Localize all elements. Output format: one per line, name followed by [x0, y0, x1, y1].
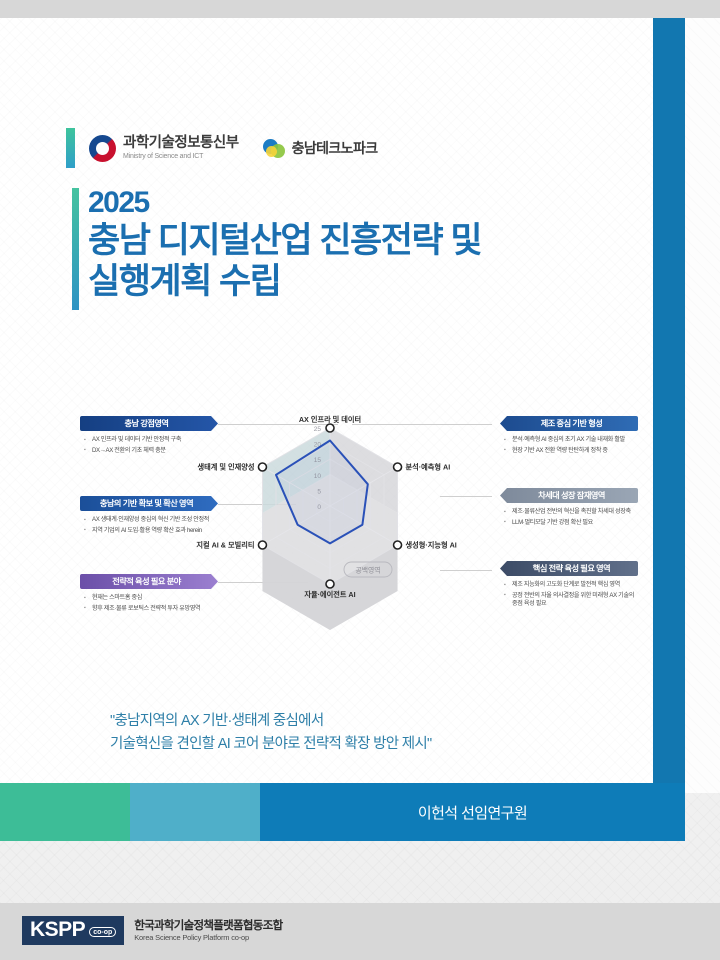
- svg-text:AX 인프라 및 데이터: AX 인프라 및 데이터: [299, 415, 361, 424]
- page-title: 2025 충남 디지털산업 진흥전략 및 실행계획 수립: [88, 186, 481, 302]
- org-name-en: Korea Science Policy Platform co-op: [134, 933, 282, 942]
- svg-text:생성형·지능형 AI: 생성형·지능형 AI: [406, 541, 457, 550]
- callout-bullet: LLM·멀티모달 기반 강점 확산 필요: [504, 519, 638, 527]
- svg-text:25: 25: [314, 426, 322, 433]
- callout-right-0-head: 제조 중심 기반 형성: [500, 416, 638, 431]
- logo-row: 과학기술정보통신부 Ministry of Science and ICT 충남…: [66, 128, 378, 168]
- right-margin: [685, 18, 720, 793]
- page-background: 과학기술정보통신부 Ministry of Science and ICT 충남…: [0, 18, 720, 903]
- callout-bullet: 공정 전반의 자율 의사결정을 위한 미래형 AX 기술의 중점 육성 필요: [504, 592, 638, 609]
- right-blue-stripe: [653, 18, 685, 793]
- kspp-coop-tag: co-op: [89, 927, 116, 937]
- callout-right-1-head: 차세대 성장 잠재영역: [500, 488, 638, 503]
- callout-right-2[interactable]: 핵심 전략 육성 필요 영역 제조 지능화의 고도화 단계로 발전적 핵심 영역…: [500, 561, 638, 611]
- quote-text: "충남지역의 AX 기반·생태계 중심에서 기술혁신을 견인할 AI 코어 분야…: [110, 710, 431, 756]
- radar-chart: 0510152025AX 인프라 및 데이터분석·예측형 AI생성형·지능형 A…: [196, 406, 464, 636]
- header-accent-bar: [66, 128, 75, 168]
- ministry-name-ko: 과학기술정보통신부: [123, 136, 239, 151]
- callout-bullet: 분석·예측형 AI 중심의 초기 AX 기술 내재화 활발: [504, 436, 638, 444]
- callout-right-2-body: 제조 지능화의 고도화 단계로 발전적 핵심 영역 공정 전반의 자율 의사결정…: [500, 581, 638, 609]
- footer-logo: KSPP co-op 한국과학기술정책플랫폼협동조합 Korea Science…: [22, 916, 282, 945]
- callout-right-0-body: 분석·예측형 AI 중심의 초기 AX 기술 내재화 활발 현장 기반 AX 전…: [500, 436, 638, 455]
- technopark-icon: [263, 137, 286, 160]
- taegeuk-icon: [89, 135, 116, 162]
- callout-right-0[interactable]: 제조 중심 기반 형성 분석·예측형 AI 중심의 초기 AX 기술 내재화 활…: [500, 416, 638, 458]
- svg-text:자율·에이전트 AI: 자율·에이전트 AI: [304, 590, 355, 599]
- svg-text:분석·예측형 AI: 분석·예측형 AI: [406, 463, 451, 472]
- callout-right-1-body: 제조·물류산업 전반의 혁신을 촉진할 차세대 성장축 LLM·멀티모달 기반 …: [500, 508, 638, 527]
- svg-text:피지컬 AI & 모빌리티: 피지컬 AI & 모빌리티: [196, 541, 254, 550]
- ministry-name-en: Ministry of Science and ICT: [123, 153, 239, 160]
- org-name-ko: 한국과학기술정책플랫폼협동조합: [134, 919, 282, 933]
- kspp-wordmark: KSPP: [30, 920, 85, 940]
- band-green: [0, 783, 130, 841]
- callout-bullet: 현장 기반 AX 전환 역량 탄탄하게 정착 중: [504, 447, 638, 455]
- band-cyan: [130, 783, 260, 841]
- kspp-badge: KSPP co-op: [22, 916, 124, 945]
- slide-canvas: 과학기술정보통신부 Ministry of Science and ICT 충남…: [0, 0, 720, 960]
- callout-bullet: 제조·물류산업 전반의 혁신을 촉진할 차세대 성장축: [504, 508, 638, 516]
- callout-right-1[interactable]: 차세대 성장 잠재영역 제조·물류산업 전반의 혁신을 촉진할 차세대 성장축 …: [500, 488, 638, 530]
- diagram-area: 충남 강점영역 AX 인프라 및 데이터 기반 안정적 구축 DX→AX 전환의…: [0, 398, 653, 648]
- title-year: 2025: [88, 186, 481, 220]
- svg-text:AX 생태계 및 인재양성: AX 생태계 및 인재양성: [196, 463, 254, 472]
- partner-name: 충남테크노파크: [292, 138, 378, 158]
- title-accent-bar: [72, 188, 79, 310]
- callout-bullet: 제조 지능화의 고도화 단계로 발전적 핵심 영역: [504, 581, 638, 589]
- presenter-name: 이헌석 선임연구원: [260, 783, 685, 841]
- callout-right-2-head: 핵심 전략 육성 필요 영역: [500, 561, 638, 576]
- partner-logo: 충남테크노파크: [263, 137, 378, 160]
- svg-text:공백영역: 공백영역: [355, 566, 380, 575]
- title-main: 충남 디지털산업 진흥전략 및 실행계획 수립: [88, 220, 481, 302]
- ministry-logo: 과학기술정보통신부 Ministry of Science and ICT: [89, 135, 239, 162]
